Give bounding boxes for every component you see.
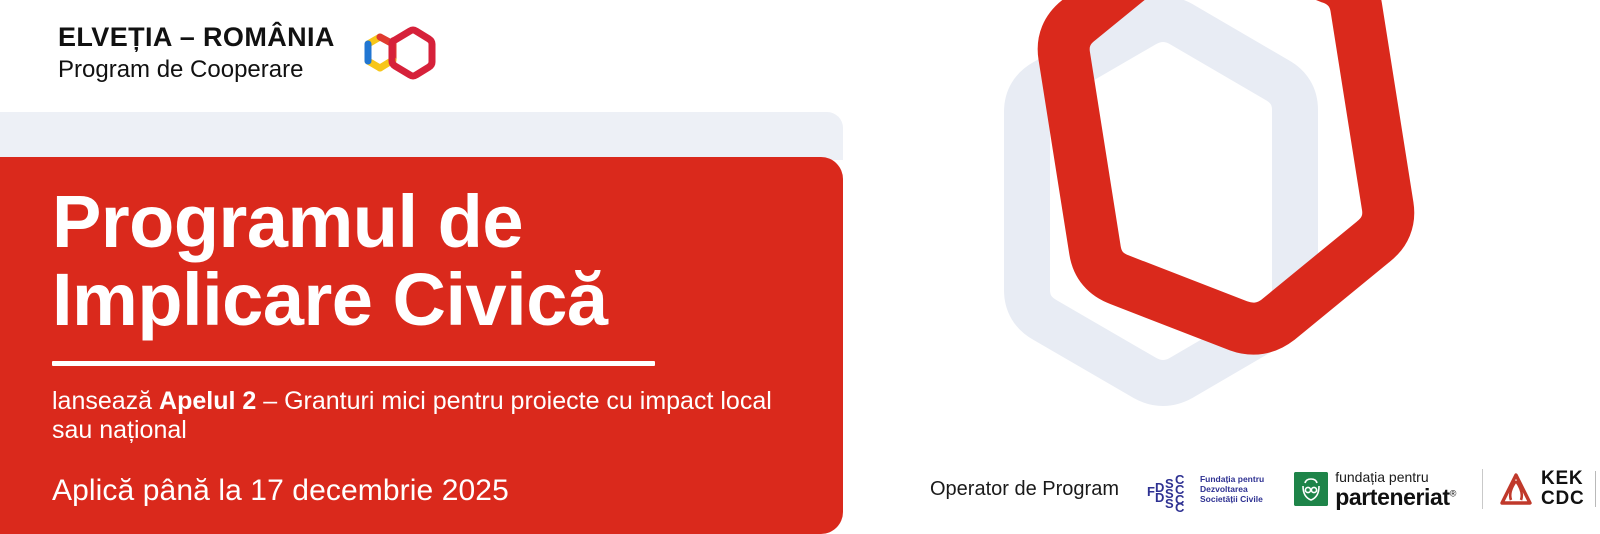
call-name: Apelul 2: [159, 387, 256, 415]
kek-triangle-icon: [1499, 472, 1533, 506]
parteneriat-name: fundația pentru parteneriat®: [1335, 470, 1456, 509]
fdsc-name-line-2: Dezvoltarea: [1200, 484, 1264, 494]
call-description-prefix: lansează: [52, 387, 159, 415]
fdsc-name-line-1: Fundația pentru: [1200, 474, 1264, 484]
title-line-1: Programul de: [52, 183, 803, 261]
deadline-text: Aplică până la 17 decembrie 2025: [52, 473, 803, 509]
fdsc-logo: F D D S S S C C C C Fundația pentru Dezv…: [1147, 466, 1264, 512]
logo-country-line: ELVEȚIA – ROMÂNIA: [58, 24, 335, 51]
parteneriat-logo: fundația pentru parteneriat®: [1294, 470, 1456, 509]
page-title: Programul de Implicare Civică: [52, 183, 803, 340]
operator-label: Operator de Program: [930, 478, 1119, 501]
parteneriat-bottom-line: parteneriat®: [1335, 486, 1456, 509]
parteneriat-top-line: fundația pentru: [1335, 470, 1456, 484]
parteneriat-leaf-icon: [1294, 472, 1328, 506]
kek-wordmark: KEK CDC: [1541, 469, 1585, 509]
svg-text:S: S: [1165, 496, 1174, 511]
svg-text:D: D: [1155, 490, 1164, 505]
parteneriat-wordmark: parteneriat: [1335, 484, 1449, 510]
call-description: lansează Apelul 2 – Granturi mici pentru…: [52, 387, 792, 446]
program-logo-text: ELVEȚIA – ROMÂNIA Program de Cooperare: [58, 24, 335, 82]
interlocking-hexagons-icon: [355, 22, 437, 84]
kek-line-2: CDC: [1541, 489, 1585, 509]
kek-cdc-logo: KEK CDC ANALYSIS CONSULTING EVALUATION: [1482, 469, 1600, 509]
svg-text:F: F: [1147, 484, 1155, 499]
hexagon-artwork: [905, 0, 1525, 432]
logo-program-line: Program de Cooperare: [58, 58, 335, 82]
svg-text:C: C: [1175, 500, 1185, 512]
program-logo: ELVEȚIA – ROMÂNIA Program de Cooperare: [58, 22, 437, 84]
announcement-panel: Programul de Implicare Civică lansează A…: [0, 157, 843, 534]
fdsc-name-line-3: Societății Civile: [1200, 494, 1264, 504]
title-line-2: Implicare Civică: [52, 261, 803, 339]
fdsc-monogram-icon: F D D S S S C C C C: [1147, 466, 1195, 512]
partner-logos-strip: Operator de Program F D D S S S C C C C: [930, 466, 1600, 512]
kek-line-1: KEK: [1541, 469, 1585, 489]
registered-trademark-icon: ®: [1450, 488, 1456, 498]
title-divider: [52, 361, 655, 366]
kek-divider: [1595, 471, 1596, 507]
fdsc-name: Fundația pentru Dezvoltarea Societății C…: [1200, 474, 1264, 504]
pale-band: [0, 112, 843, 160]
campaign-banner: ELVEȚIA – ROMÂNIA Program de Cooperare: [0, 0, 1600, 534]
